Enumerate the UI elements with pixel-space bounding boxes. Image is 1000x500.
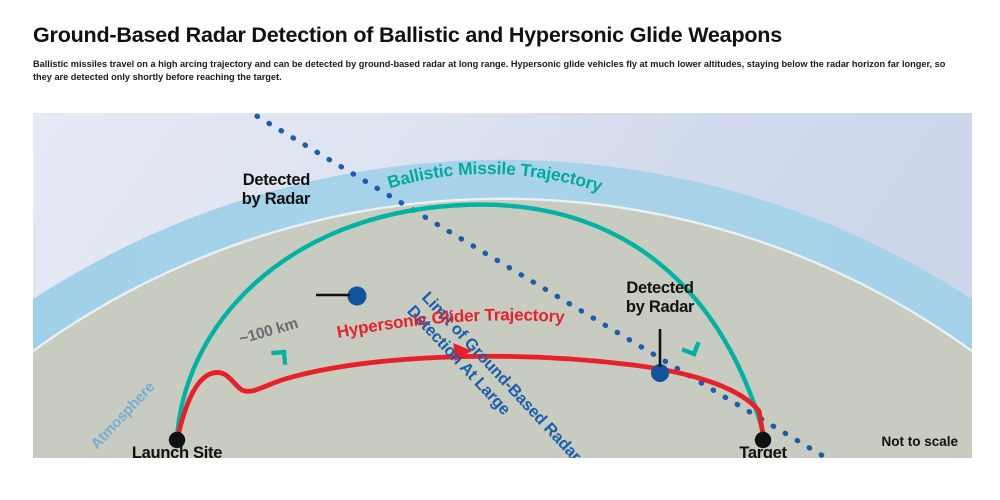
label-detected-left-line1: Detected — [243, 171, 310, 189]
label-detected-right-line1: Detected — [626, 279, 693, 297]
diagram-panel: Ballistic Missile Trajectory Limit of Gr… — [33, 113, 972, 458]
label-target: Target — [739, 444, 787, 458]
label-detected-left-line2: by Radar — [242, 190, 311, 208]
header: Ground-Based Radar Detection of Ballisti… — [0, 0, 1000, 112]
page-subtitle: Ballistic missiles travel on a high arci… — [33, 58, 963, 85]
label-detected-right-line2: by Radar — [626, 298, 695, 316]
infographic-root: Ground-Based Radar Detection of Ballisti… — [0, 0, 1000, 500]
page-title: Ground-Based Radar Detection of Ballisti… — [33, 24, 973, 48]
label-launch-site: Launch Site — [132, 444, 222, 458]
not-to-scale-note: Not to scale — [881, 434, 958, 449]
detection-point-ballistic — [348, 287, 367, 306]
